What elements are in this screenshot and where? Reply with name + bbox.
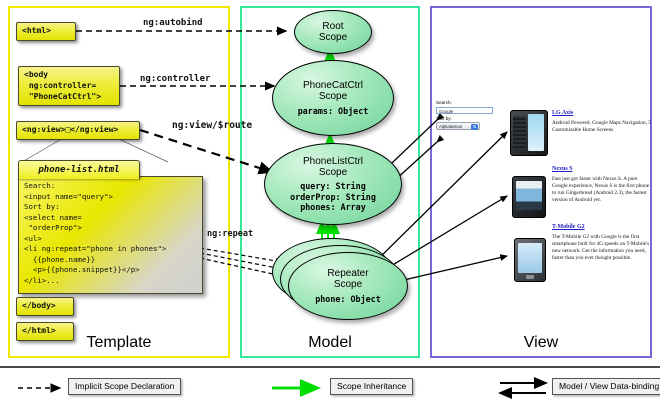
search-label: Search: <box>436 100 498 106</box>
html-close-tag: </html> <box>16 322 74 341</box>
search-widget: Search: Google Sort by: Alphabetical ⇅ <box>436 100 498 130</box>
scope-repeater-title: Repeater Scope <box>327 268 368 290</box>
sort-select[interactable]: Alphabetical ⇅ <box>436 122 480 130</box>
edge-repeat-1 <box>200 248 282 262</box>
template-file-card: phone-list.html Search: <input name="que… <box>18 160 203 295</box>
file-name-label: phone-list.html <box>19 161 139 179</box>
edge-repeat-2 <box>200 253 282 269</box>
legend: Implicit Scope Declaration Scope Inherit… <box>0 366 660 407</box>
scope-phonelistctrl-title: PhoneListCtrl Scope <box>303 156 363 178</box>
html-open-tag: <html> <box>16 22 76 41</box>
phone-photo-nexus-s <box>512 176 546 218</box>
scope-phonecatctrl: PhoneCatCtrl Scope params: Object <box>272 60 394 136</box>
scope-phonelistctrl-props: query: String orderProp: String phones: … <box>290 181 376 212</box>
scope-phonecatctrl-props: params: Object <box>298 106 369 116</box>
phone-entry-nexus-s: Nexus S Fast just got faster with Nexus … <box>552 166 652 204</box>
scope-phonelistctrl: PhoneListCtrl Scope query: String orderP… <box>264 143 402 225</box>
phone-entry-tmobile-g2: T-Mobile G2 The T-Mobile G2 with Google … <box>552 224 652 262</box>
phone-description: Android Powered, Google Maps Navigation,… <box>552 120 652 134</box>
body-close-tag: </body> <box>16 297 74 316</box>
edge-label-repeat: ng:repeat <box>207 229 253 239</box>
file-code-block: Search: <input name="query"> Sort by: <s… <box>18 176 203 294</box>
edge-label-view-route: ng:view/$route <box>172 120 252 131</box>
scope-repeater-props: phone: Object <box>315 294 381 304</box>
phone-name-link[interactable]: T-Mobile G2 <box>552 224 652 231</box>
phone-photo-lg-axis <box>510 110 548 156</box>
file-name-tab: phone-list.html <box>18 160 140 179</box>
phone-name-link[interactable]: LG Axis <box>552 110 652 117</box>
phone-description: Fast just got faster with Nexus S. A pur… <box>552 176 652 204</box>
sort-label: Sort by: <box>436 116 498 122</box>
sort-select-value: Alphabetical <box>439 124 462 129</box>
body-tag: <body ng:controller= "PhoneCatCtrl"> <box>18 66 120 106</box>
scope-phonecatctrl-title: PhoneCatCtrl Scope <box>303 80 363 102</box>
diagram-canvas: Template Model View <box>0 0 660 405</box>
ngview-tag: <ng:view>□</ng:view> <box>16 121 140 140</box>
phone-name-link[interactable]: Nexus S <box>552 166 652 173</box>
legend-label-databinding: Model / View Data-binding <box>552 378 660 395</box>
edge-bind-phone-2 <box>376 196 507 275</box>
legend-label-inheritance: Scope Inheritance <box>330 378 413 395</box>
scope-repeater: Repeater Scope phone: Object <box>288 252 408 320</box>
edge-label-autobind: ng:autobind <box>143 18 203 28</box>
search-input[interactable]: Google <box>436 107 493 114</box>
phone-entry-lg-axis: LG Axis Android Powered, Google Maps Nav… <box>552 110 652 134</box>
chevron-down-icon: ⇅ <box>471 124 478 130</box>
legend-label-implicit: Implicit Scope Declaration <box>68 378 181 395</box>
scope-root: Root Scope <box>294 10 372 54</box>
edge-label-controller: ng:controller <box>140 74 210 84</box>
scope-root-title: Root Scope <box>319 21 347 43</box>
phone-photo-tmobile-g2 <box>514 238 546 282</box>
phone-description: The T-Mobile G2 with Google is the first… <box>552 234 652 262</box>
